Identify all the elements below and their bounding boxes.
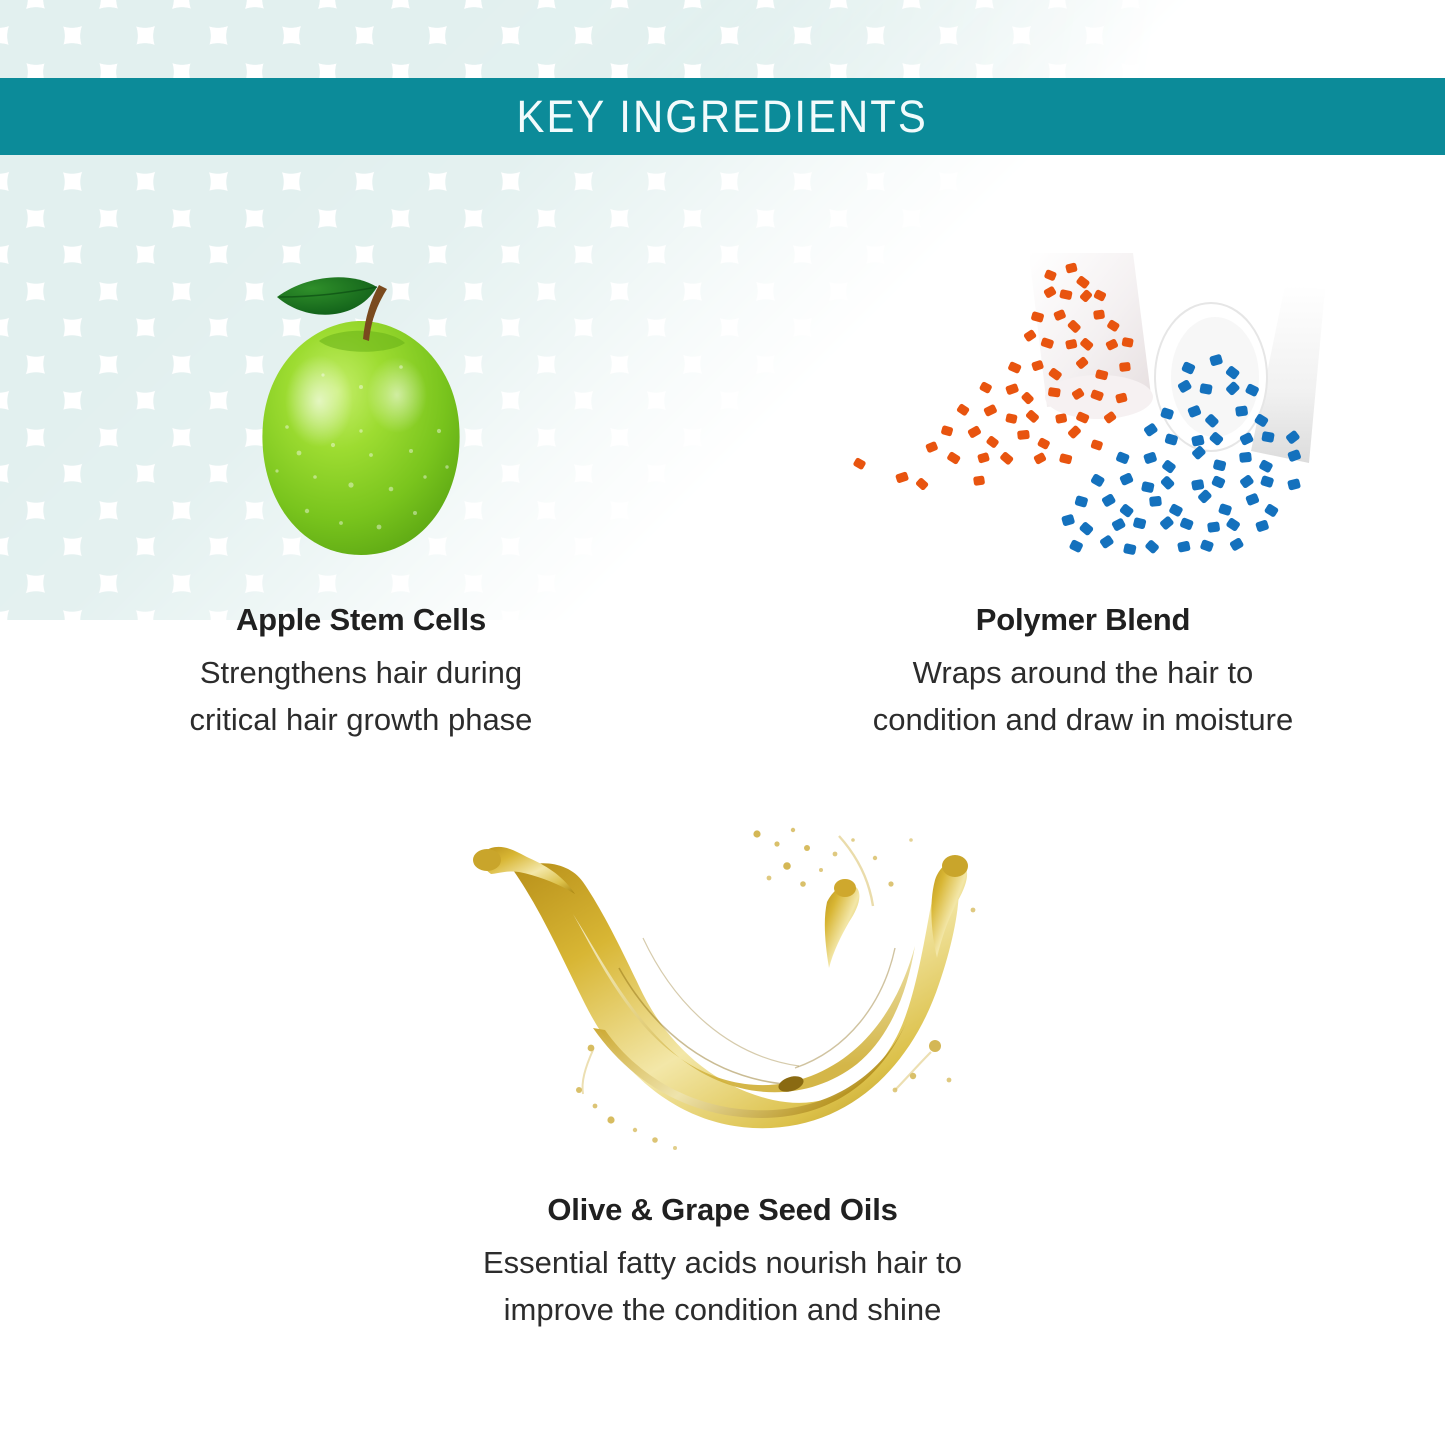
polymer-pellets-icon	[833, 245, 1333, 575]
green-apple-icon	[211, 255, 511, 575]
ingredient-description: Essential fatty acids nourish hair to im…	[483, 1239, 962, 1333]
ingredient-description: Wraps around the hair to condition and d…	[873, 649, 1293, 743]
ingredient-description-line1: Wraps around the hair to	[873, 649, 1293, 696]
ingredient-description-line2: improve the condition and shine	[483, 1286, 962, 1333]
ingredient-description-line2: condition and draw in moisture	[873, 696, 1293, 743]
ingredient-description: Strengthens hair during critical hair gr…	[190, 649, 533, 743]
oil-art-container	[293, 815, 1153, 1165]
ingredient-title: Apple Stem Cells	[236, 603, 486, 637]
ingredient-card-apple-stem-cells: Apple Stem Cells Strengthens hair during…	[0, 175, 722, 743]
ingredient-description-line1: Strengthens hair during	[190, 649, 533, 696]
ingredients-row-bottom: Olive & Grape Seed Oils Essential fatty …	[0, 815, 1445, 1333]
ingredient-description-line2: critical hair growth phase	[190, 696, 533, 743]
ingredient-card-olive-grape-seed-oils: Olive & Grape Seed Oils Essential fatty …	[293, 815, 1153, 1333]
ingredient-title: Olive & Grape Seed Oils	[547, 1193, 897, 1227]
ingredient-card-polymer-blend: Polymer Blend Wraps around the hair to c…	[722, 175, 1444, 743]
polymer-art-container	[722, 175, 1444, 575]
key-ingredients-infographic: KEY INGREDIENTS	[0, 0, 1445, 1445]
page-title: KEY INGREDIENTS	[517, 94, 928, 139]
oil-splash-icon	[443, 818, 1003, 1163]
key-ingredients-banner: KEY INGREDIENTS	[0, 78, 1445, 155]
ingredient-title: Polymer Blend	[976, 603, 1190, 637]
ingredient-description-line1: Essential fatty acids nourish hair to	[483, 1239, 962, 1286]
blue-container	[1155, 285, 1325, 463]
ingredients-row-top: Apple Stem Cells Strengthens hair during…	[0, 175, 1445, 743]
apple-art-container	[0, 175, 722, 575]
